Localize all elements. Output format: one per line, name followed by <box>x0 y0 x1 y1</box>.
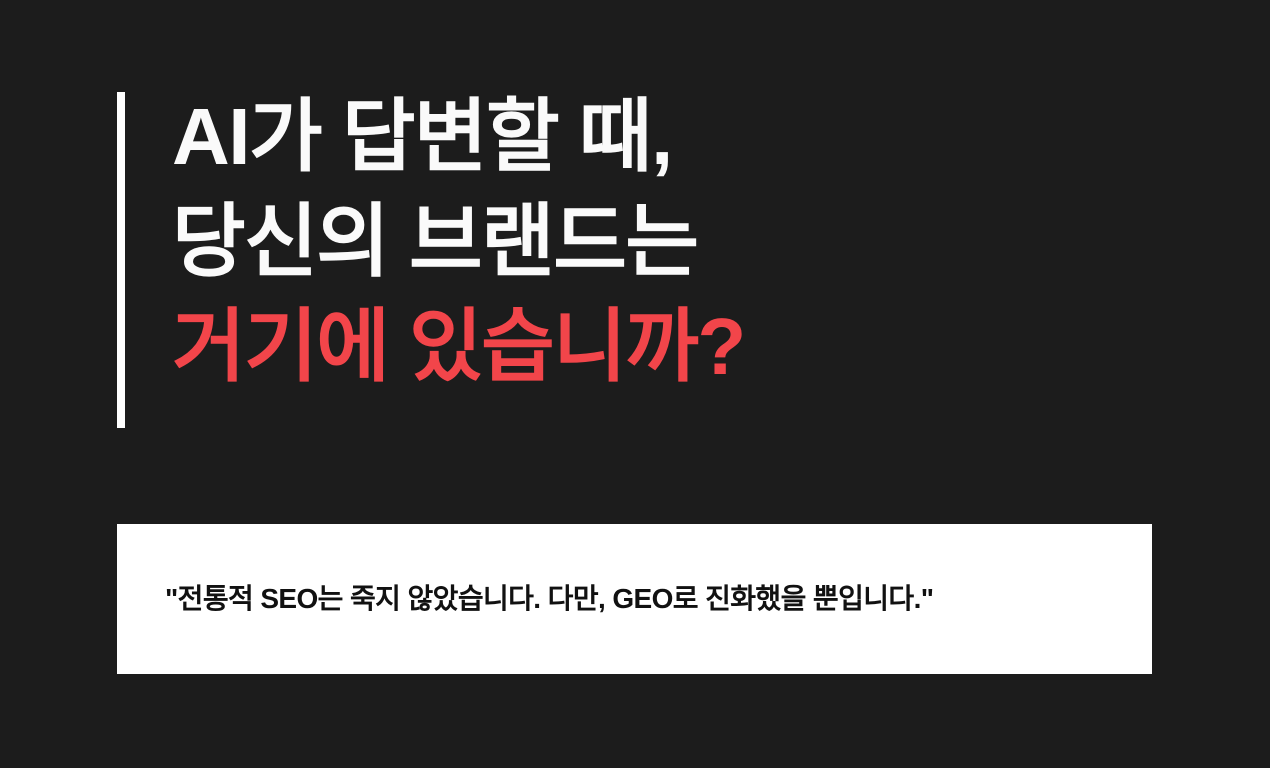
headline-line-1: AI가 답변할 때, <box>172 84 745 189</box>
headline-line-3-accent: 거기에 있습니까? <box>172 294 745 399</box>
headline-line-2: 당신의 브랜드는 <box>172 189 745 294</box>
headline-block: AI가 답변할 때, 당신의 브랜드는 거기에 있습니까? <box>117 92 1157 428</box>
slide-canvas: AI가 답변할 때, 당신의 브랜드는 거기에 있습니까? "전통적 SEO는 … <box>0 0 1270 768</box>
vertical-accent-bar <box>117 92 125 428</box>
quote-panel: "전통적 SEO는 죽지 않았습니다. 다만, GEO로 진화했을 뿐입니다." <box>117 524 1152 674</box>
page-title: AI가 답변할 때, 당신의 브랜드는 거기에 있습니까? <box>172 84 745 399</box>
quote-text: "전통적 SEO는 죽지 않았습니다. 다만, GEO로 진화했을 뿐입니다." <box>117 579 985 619</box>
